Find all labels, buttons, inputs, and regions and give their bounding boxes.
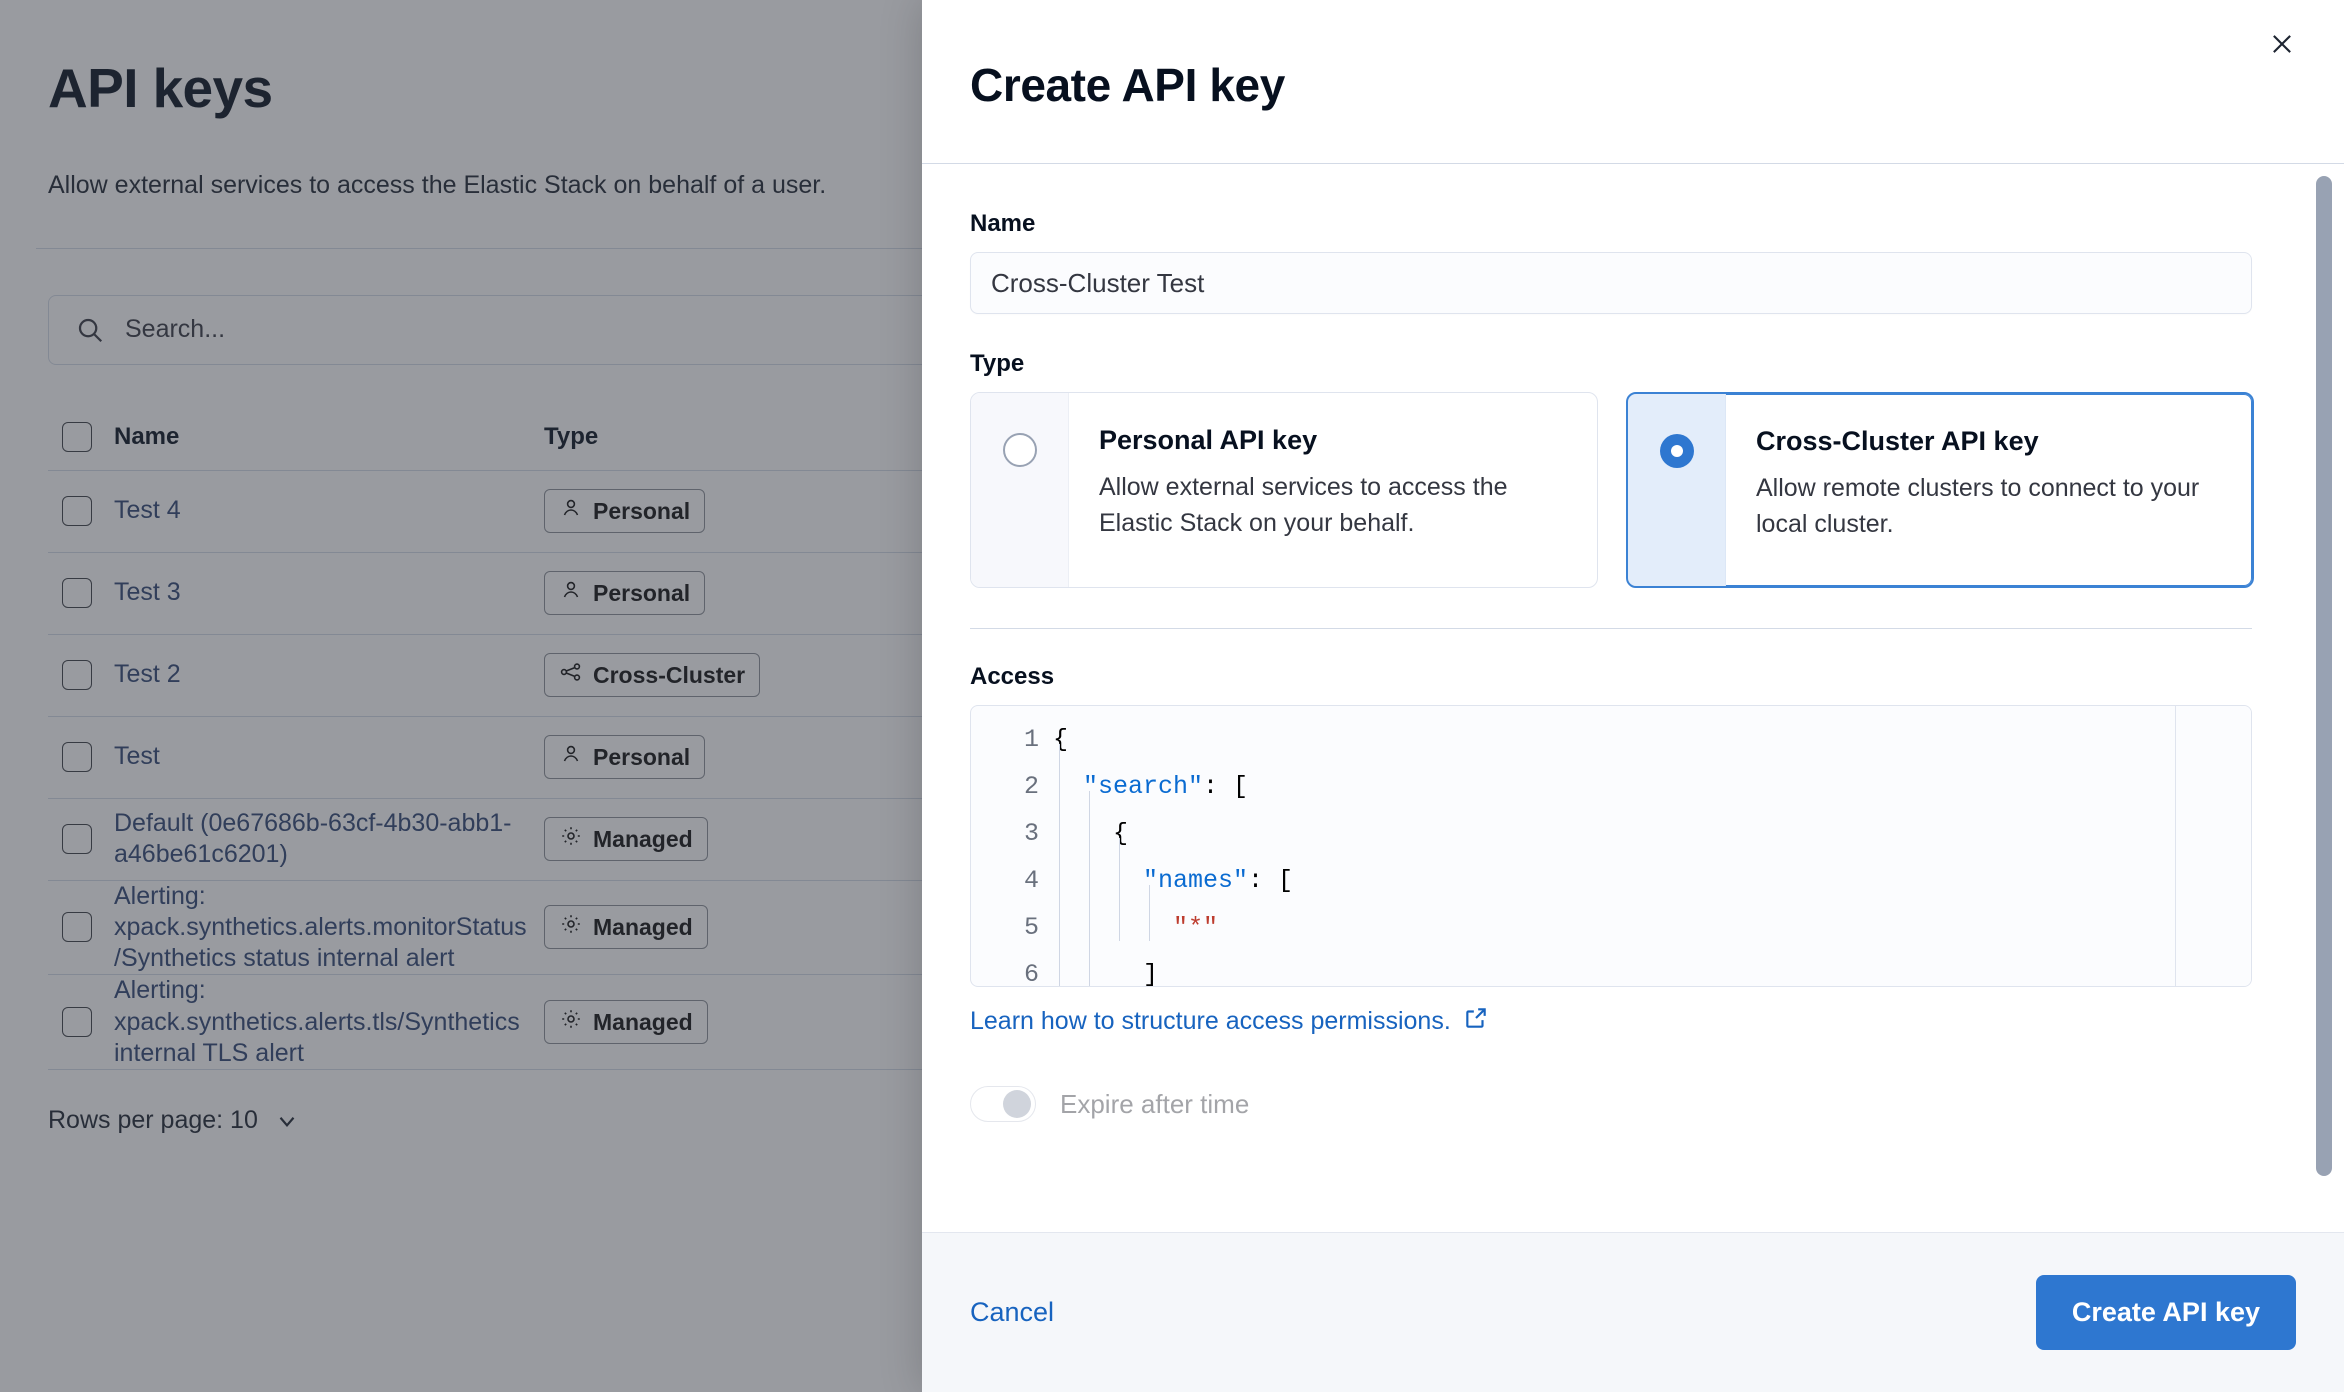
editor-code-line: { [1053, 716, 2251, 763]
expire-after-time-row[interactable]: Expire after time [970, 1086, 2282, 1122]
type-option-description: Allow external services to access the El… [1099, 470, 1567, 541]
editor-line-number: 5 [971, 904, 1053, 951]
learn-permissions-link[interactable]: Learn how to structure access permission… [970, 1005, 1489, 1038]
editor-code-line: "*" [1053, 904, 2251, 951]
editor-line-number: 3 [971, 810, 1053, 857]
type-field-group: Type Personal API key Allow external ser… [970, 350, 2282, 588]
editor-line-number: 1 [971, 716, 1053, 763]
editor-code-line: "search": [ [1053, 763, 2251, 810]
type-option-title: Personal API key [1099, 425, 1567, 456]
editor-line-number: 4 [971, 857, 1053, 904]
create-api-key-flyout: Create API key Name Type Personal API ke [922, 0, 2344, 1392]
flyout-footer: Cancel Create API key [922, 1232, 2344, 1392]
type-label: Type [970, 350, 2282, 378]
editor-code-area[interactable]: { "search": [ { "names": [ "*" ] } ], "r… [1053, 706, 2251, 986]
flyout-body: Name Type Personal API key Allow externa… [922, 164, 2344, 1232]
editor-minimap[interactable] [2175, 706, 2251, 986]
radio-cell[interactable] [1628, 394, 1726, 586]
flyout-title: Create API key [970, 58, 2296, 112]
create-api-key-button[interactable]: Create API key [2036, 1275, 2296, 1350]
radio-button-personal[interactable] [1003, 433, 1037, 467]
access-code-editor[interactable]: 12345678910 { "search": [ { "names": [ "… [970, 705, 2252, 987]
expire-after-time-toggle[interactable] [970, 1086, 1036, 1122]
expire-after-time-label: Expire after time [1060, 1089, 1249, 1120]
editor-code-line: "names": [ [1053, 857, 2251, 904]
name-input[interactable] [970, 252, 2252, 314]
type-option-description: Allow remote clusters to connect to your… [1756, 471, 2222, 542]
type-option-personal[interactable]: Personal API key Allow external services… [970, 392, 1598, 588]
cancel-button[interactable]: Cancel [970, 1297, 1054, 1328]
editor-code-line: { [1053, 810, 2251, 857]
flyout-header: Create API key [922, 0, 2344, 164]
external-link-icon [1463, 1005, 1489, 1038]
type-option-title: Cross-Cluster API key [1756, 426, 2222, 457]
name-label: Name [970, 210, 2282, 238]
type-radio-group: Personal API key Allow external services… [970, 392, 2282, 588]
editor-line-number: 2 [971, 763, 1053, 810]
editor-code-line: ] [1053, 951, 2251, 986]
section-divider [970, 628, 2252, 629]
type-option-cross-cluster[interactable]: Cross-Cluster API key Allow remote clust… [1626, 392, 2254, 588]
name-field-group: Name [970, 210, 2282, 314]
learn-permissions-link-label: Learn how to structure access permission… [970, 1007, 1451, 1036]
close-icon[interactable] [2258, 20, 2306, 68]
radio-cell[interactable] [971, 393, 1069, 587]
flyout-scrollbar-thumb[interactable] [2316, 176, 2332, 1176]
flyout-scrollbar[interactable] [2316, 176, 2332, 1232]
editor-line-numbers: 12345678910 [971, 706, 1053, 986]
editor-line-number: 6 [971, 951, 1053, 987]
access-field-group: Access 12345678910 { "search": [ { "name… [970, 663, 2282, 1038]
radio-button-cross-cluster[interactable] [1660, 434, 1694, 468]
access-label: Access [970, 663, 2282, 691]
